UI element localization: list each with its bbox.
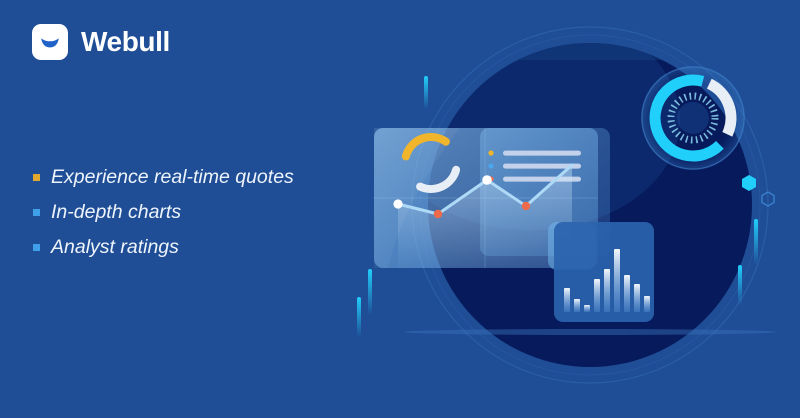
legend-dot <box>488 163 493 168</box>
bar <box>634 284 640 312</box>
feature-label: In-depth charts <box>51 203 181 223</box>
bar <box>644 296 650 312</box>
tick-mark <box>424 76 428 109</box>
webull-logo-icon <box>32 24 68 60</box>
square-bullet-icon <box>33 174 40 181</box>
ground-shadow <box>404 329 776 335</box>
bar <box>564 288 570 312</box>
bar <box>624 275 630 312</box>
legend-dot <box>488 150 493 155</box>
trading-dashboard-illustration <box>340 0 800 418</box>
radial-gauge <box>641 66 745 170</box>
bar <box>614 249 620 312</box>
list-item: In-depth charts <box>33 195 294 230</box>
square-bullet-icon <box>33 209 40 216</box>
bar <box>594 279 600 312</box>
legend-bar <box>503 151 581 156</box>
tick-mark <box>754 219 758 265</box>
data-point <box>434 210 442 218</box>
list-item: Analyst ratings <box>33 230 294 265</box>
brand-logo: Webull <box>32 24 170 60</box>
gauge-inner-disc <box>677 102 709 134</box>
bar <box>584 305 590 312</box>
webull-promo-banner: Webull Experience real-time quotes In-de… <box>0 0 800 418</box>
bar <box>604 269 610 312</box>
data-point <box>393 199 402 208</box>
square-bullet-icon <box>33 244 40 251</box>
data-point <box>522 202 530 210</box>
data-point <box>482 175 492 185</box>
tick-mark <box>357 297 361 337</box>
tick-mark <box>738 265 742 305</box>
bar <box>574 299 580 312</box>
list-item: Experience real-time quotes <box>33 160 294 195</box>
brand-name: Webull <box>81 28 170 56</box>
tick-mark <box>368 269 372 315</box>
feature-label: Analyst ratings <box>51 238 179 258</box>
feature-list: Experience real-time quotes In-depth cha… <box>33 160 294 265</box>
feature-label: Experience real-time quotes <box>51 168 294 188</box>
